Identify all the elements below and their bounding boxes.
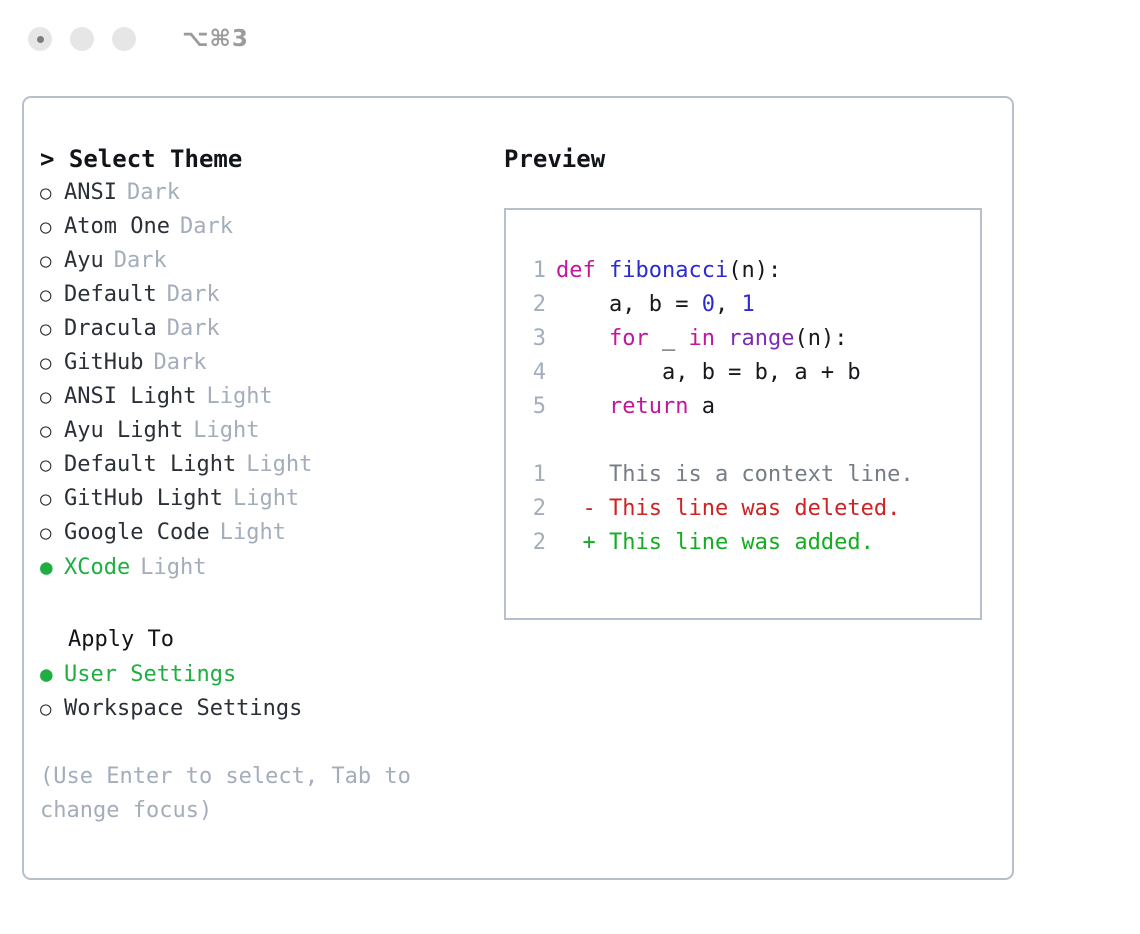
theme-item-variant: Dark <box>180 210 233 244</box>
theme-item-label: Atom One <box>64 210 170 244</box>
diff-text: + This line was added. <box>556 530 874 555</box>
code-token-punct: (n): <box>794 326 847 351</box>
code-line: 1def fibonacci(n): <box>520 254 980 288</box>
radio-unselected-icon[interactable]: ○ <box>40 414 64 448</box>
radio-unselected-icon[interactable]: ○ <box>40 210 64 244</box>
apply-to-option-workspace-settings[interactable]: ○Workspace Settings <box>40 692 494 726</box>
radio-unselected-icon[interactable]: ○ <box>40 448 64 482</box>
theme-item-default-light[interactable]: ○Default LightLight <box>40 448 494 482</box>
radio-unselected-icon[interactable]: ○ <box>40 278 64 312</box>
apply-to-option-user-settings[interactable]: ●User Settings <box>40 657 494 692</box>
preview-heading: Preview <box>504 142 1012 176</box>
theme-item-label: GitHub <box>64 346 143 380</box>
theme-item-label: Default Light <box>64 448 236 482</box>
theme-item-variant: Dark <box>167 312 220 346</box>
apply-to-list[interactable]: ●User Settings○Workspace Settings <box>40 657 494 726</box>
theme-item-atom-one[interactable]: ○Atom OneDark <box>40 210 494 244</box>
keyboard-shortcut-label: ⌥⌘3 <box>182 26 249 52</box>
main-panel: > Select Theme ○ANSIDark○Atom OneDark○Ay… <box>22 96 1014 880</box>
radio-unselected-icon[interactable]: ○ <box>40 692 64 726</box>
line-number: 3 <box>520 322 546 356</box>
line-number: 1 <box>520 458 546 492</box>
window-controls <box>28 27 136 51</box>
theme-item-github[interactable]: ○GitHubDark <box>40 346 494 380</box>
theme-item-variant: Light <box>206 380 272 414</box>
line-number: 5 <box>520 390 546 424</box>
radio-unselected-icon[interactable]: ○ <box>40 176 64 210</box>
code-token-plain: a, b = <box>556 292 702 317</box>
select-theme-heading: > Select Theme <box>40 142 494 176</box>
radio-unselected-icon[interactable]: ○ <box>40 482 64 516</box>
line-number: 2 <box>520 526 546 560</box>
theme-item-ansi-light[interactable]: ○ANSI LightLight <box>40 380 494 414</box>
diff-text: - This line was deleted. <box>556 496 900 521</box>
code-token-fn: fibonacci <box>609 258 728 283</box>
line-number: 2 <box>520 288 546 322</box>
code-line: 4 a, b = b, a + b <box>520 356 980 390</box>
radio-unselected-icon[interactable]: ○ <box>40 244 64 278</box>
theme-item-variant: Light <box>233 482 299 516</box>
theme-item-label: Ayu <box>64 244 104 278</box>
window-dot-2[interactable] <box>70 27 94 51</box>
apply-to-section: Apply To ●User Settings○Workspace Settin… <box>40 623 494 726</box>
code-token-plain: a, b = b, a + b <box>556 360 861 385</box>
code-token-num: 0 <box>702 292 715 317</box>
code-token-builtin: range <box>728 326 794 351</box>
theme-item-label: Ayu Light <box>64 414 183 448</box>
preview-box: 1def fibonacci(n):2 a, b = 0, 13 for _ i… <box>504 208 982 620</box>
theme-item-variant: Light <box>220 516 286 550</box>
code-token-kw: for <box>609 326 649 351</box>
theme-item-variant: Dark <box>114 244 167 278</box>
theme-list[interactable]: ○ANSIDark○Atom OneDark○AyuDark○DefaultDa… <box>40 176 494 585</box>
preview-column: Preview 1def fibonacci(n):2 a, b = 0, 13… <box>494 142 1012 828</box>
diff-line-ctx: 1 This is a context line. <box>520 458 980 492</box>
preview-spacer <box>520 424 980 458</box>
theme-item-label: Dracula <box>64 312 157 346</box>
apply-to-option-label: User Settings <box>64 658 236 692</box>
code-line: 5 return a <box>520 390 980 424</box>
code-line: 3 for _ in range(n): <box>520 322 980 356</box>
theme-item-ansi[interactable]: ○ANSIDark <box>40 176 494 210</box>
radio-selected-icon[interactable]: ● <box>40 657 64 691</box>
theme-item-default[interactable]: ○DefaultDark <box>40 278 494 312</box>
code-token-plain <box>556 326 609 351</box>
code-token-num: 1 <box>741 292 754 317</box>
code-line: 2 a, b = 0, 1 <box>520 288 980 322</box>
keyboard-hint: (Use Enter to select, Tab to change focu… <box>40 760 440 828</box>
theme-item-label: ANSI Light <box>64 380 196 414</box>
code-token-punct: (n): <box>728 258 781 283</box>
diff-sample: 1 This is a context line.2 - This line w… <box>520 458 980 560</box>
window-dot-3[interactable] <box>112 27 136 51</box>
diff-line-add: 2 + This line was added. <box>520 526 980 560</box>
theme-picker-column: > Select Theme ○ANSIDark○Atom OneDark○Ay… <box>24 142 494 828</box>
radio-selected-icon[interactable]: ● <box>40 550 64 584</box>
diff-line-del: 2 - This line was deleted. <box>520 492 980 526</box>
theme-item-variant: Dark <box>153 346 206 380</box>
code-sample: 1def fibonacci(n):2 a, b = 0, 13 for _ i… <box>520 254 980 424</box>
window-dot-active[interactable] <box>28 27 52 51</box>
theme-item-variant: Light <box>140 551 206 585</box>
app-window: ⌥⌘3 > Select Theme ○ANSIDark○Atom OneDar… <box>0 0 1140 934</box>
theme-item-variant: Light <box>193 414 259 448</box>
apply-to-option-label: Workspace Settings <box>64 692 302 726</box>
theme-item-variant: Dark <box>127 176 180 210</box>
code-token-plain: _ <box>649 326 689 351</box>
line-number: 2 <box>520 492 546 526</box>
code-token-kw: def <box>556 258 609 283</box>
window-dot-active-inner <box>37 36 44 43</box>
theme-item-label: ANSI <box>64 176 117 210</box>
theme-item-dracula[interactable]: ○DraculaDark <box>40 312 494 346</box>
theme-item-github-light[interactable]: ○GitHub LightLight <box>40 482 494 516</box>
theme-item-label: Default <box>64 278 157 312</box>
radio-unselected-icon[interactable]: ○ <box>40 516 64 550</box>
code-token-plain: , <box>715 292 742 317</box>
theme-item-xcode[interactable]: ●XCodeLight <box>40 550 494 585</box>
theme-item-label: XCode <box>64 551 130 585</box>
theme-item-google-code[interactable]: ○Google CodeLight <box>40 516 494 550</box>
theme-item-variant: Dark <box>167 278 220 312</box>
line-number: 1 <box>520 254 546 288</box>
code-token-plain <box>556 394 609 419</box>
radio-unselected-icon[interactable]: ○ <box>40 312 64 346</box>
radio-unselected-icon[interactable]: ○ <box>40 380 64 414</box>
radio-unselected-icon[interactable]: ○ <box>40 346 64 380</box>
apply-to-heading: Apply To <box>40 623 494 657</box>
theme-item-ayu[interactable]: ○AyuDark <box>40 244 494 278</box>
code-token-kw: in <box>688 326 715 351</box>
theme-item-label: GitHub Light <box>64 482 223 516</box>
code-token-plain: a <box>688 394 715 419</box>
theme-item-variant: Light <box>246 448 312 482</box>
theme-item-ayu-light[interactable]: ○Ayu LightLight <box>40 414 494 448</box>
theme-item-label: Google Code <box>64 516 210 550</box>
line-number: 4 <box>520 356 546 390</box>
code-token-kw: return <box>609 394 688 419</box>
code-token-plain <box>715 326 728 351</box>
diff-text: This is a context line. <box>556 462 914 487</box>
title-bar: ⌥⌘3 <box>0 0 1140 78</box>
